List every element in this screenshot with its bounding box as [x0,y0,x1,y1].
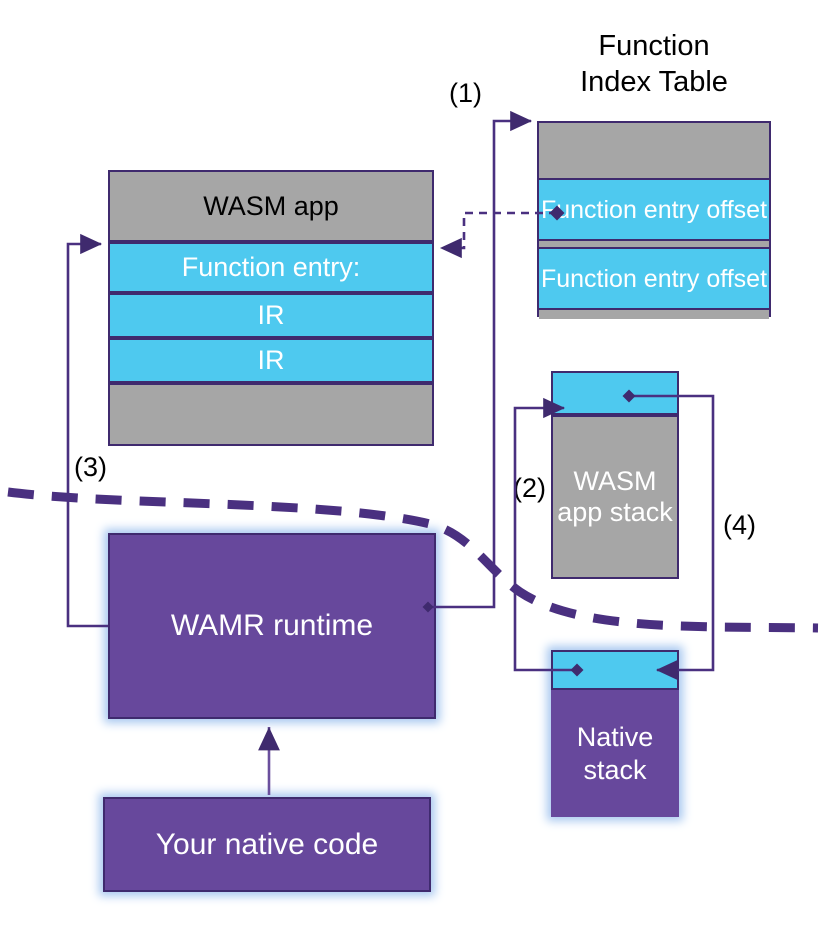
fit-row-sep-2 [539,308,769,319]
wasm-app-ir-row-1: IR [108,293,434,338]
wasm-app-ir-row-2: IR [108,338,434,383]
wasm-app-header-row: WASM app [108,170,434,242]
ir-label-1: IR [258,301,285,329]
native-stack-box: Native stack [551,650,679,817]
step-label-2: (2) [513,473,546,504]
ir-label-2: IR [258,346,285,374]
native-stack-body: Native stack [551,690,679,817]
your-native-code-box: Your native code [103,797,431,892]
your-native-code-label: Your native code [156,829,378,861]
wasm-app-label: WASM app [203,192,339,220]
wamr-runtime-label: WAMR runtime [171,610,373,642]
wasm-app-stack-body: WASM app stack [551,415,679,579]
wasm-app-stack-top-band [551,371,679,415]
wasm-app-footer-row [108,383,434,446]
step-label-4: (4) [723,510,756,541]
fit-row-sep-1 [539,239,769,247]
fit-offset-label-2: Function entry offset [541,265,767,293]
wasm-app-stack-label: WASM app stack [557,466,673,528]
native-stack-label: Native stack [577,721,654,786]
step-label-3: (3) [74,452,107,483]
connector-step-1 [423,121,532,613]
step-label-1: (1) [449,78,482,109]
fit-row-offset-1: Function entry offset [539,178,769,239]
wasm-app-function-entry-row: Function entry: [108,242,434,293]
native-stack-top-band [551,650,679,690]
function-entry-label: Function entry: [182,253,361,281]
fit-row-empty-top [539,123,769,178]
fit-row-offset-2: Function entry offset [539,247,769,308]
function-index-table-title: Function Index Table [537,28,771,101]
wasm-app-stack-box: WASM app stack [551,371,679,579]
function-index-table-box: Function entry offset Function entry off… [537,121,771,317]
wasm-app-box: WASM app Function entry: IR IR [108,170,434,446]
connector-step-3 [68,244,108,626]
fit-offset-label-1: Function entry offset [541,196,767,224]
wamr-runtime-box: WAMR runtime [108,533,436,719]
diagram-canvas: Function Index Table (1) (2) (3) (4) WAS… [0,0,819,925]
